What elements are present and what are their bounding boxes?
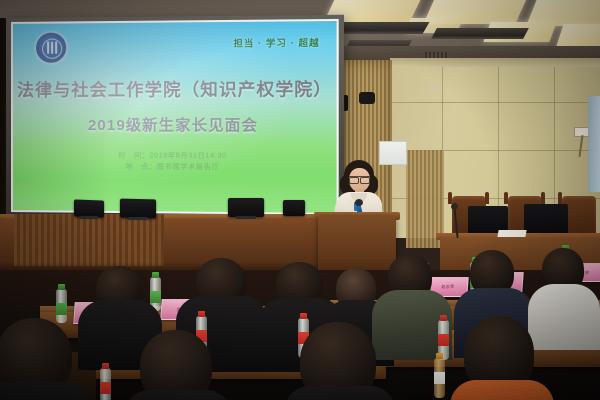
desk-paper-sheet xyxy=(497,230,526,237)
monitor-base xyxy=(128,217,148,220)
audience-member-torso xyxy=(450,380,554,400)
right-doorway xyxy=(588,96,600,192)
water-bottle xyxy=(434,358,445,398)
bottle-label xyxy=(434,372,445,384)
chair-finial xyxy=(504,192,508,204)
stage-slat-panel xyxy=(14,214,164,266)
monitor-base xyxy=(80,216,98,219)
monitor-base xyxy=(236,216,256,219)
bottle-cap xyxy=(152,272,159,278)
chair-finial xyxy=(448,192,452,204)
wall-soffit xyxy=(390,58,600,67)
slide-meta-time: 时 间：2019年8月31日14:30 xyxy=(13,150,337,161)
bottle-cap xyxy=(440,315,447,321)
slide-title-sub: 2019级新生家长见面会 xyxy=(13,114,337,136)
stage-desk-monitor-2 xyxy=(524,204,568,236)
stage-monitor-4 xyxy=(283,200,305,216)
wall-camera-icon xyxy=(430,84,439,91)
wall-speaker-icon xyxy=(359,92,375,104)
audience-member-torso xyxy=(0,382,92,400)
water-bottle xyxy=(100,368,111,400)
projection-screen: 担当 · 学习 · 超越 法律与社会工作学院（知识产权学院） 2019级新生家长… xyxy=(6,15,344,221)
bottle-label xyxy=(438,334,449,346)
ceiling-light-panel xyxy=(556,24,600,46)
water-bottle xyxy=(56,289,67,323)
glasses-icon xyxy=(349,176,370,182)
bottle-cap xyxy=(198,311,205,317)
slide-title-main: 法律与社会工作学院（知识产权学院） xyxy=(13,75,337,101)
stage-monitor-3 xyxy=(228,198,264,217)
chair-finial xyxy=(541,192,545,204)
audience-member-torso xyxy=(124,390,232,400)
audience-member-torso xyxy=(284,386,396,400)
bottle-label xyxy=(150,291,161,303)
chair-finial xyxy=(485,192,489,204)
projected-slide: 担当 · 学习 · 超越 法律与社会工作学院（知识产权学院） 2019级新生家长… xyxy=(13,21,337,213)
slide-slogan: 担当 · 学习 · 超越 xyxy=(233,36,319,50)
bottle-label xyxy=(56,303,67,315)
bottle-cap xyxy=(102,363,109,369)
emblem-glyph xyxy=(45,42,57,54)
microphone-head-icon xyxy=(355,199,363,206)
projection-screen-border: 担当 · 学习 · 超越 法律与社会工作学院（知识产权学院） 2019级新生家长… xyxy=(11,19,339,215)
bottle-cap xyxy=(300,313,307,319)
wall-panel-seam xyxy=(390,102,600,103)
lecture-hall-photo: 担当 · 学习 · 超越 法律与社会工作学院（知识产权学院） 2019级新生家长… xyxy=(0,0,600,400)
audience-member-torso xyxy=(528,284,600,350)
bottle-cap xyxy=(58,284,65,290)
ceiling-vent xyxy=(431,28,529,39)
stage-monitor-2 xyxy=(120,199,156,219)
name-card-text: 赵志军 xyxy=(441,284,454,289)
bottle-label xyxy=(100,382,111,394)
university-emblem-icon xyxy=(35,31,67,63)
desk-microphone-head xyxy=(451,203,458,210)
stage-monitor-1 xyxy=(74,199,104,217)
bottle-cap xyxy=(436,353,443,359)
chair-finial xyxy=(558,192,562,204)
